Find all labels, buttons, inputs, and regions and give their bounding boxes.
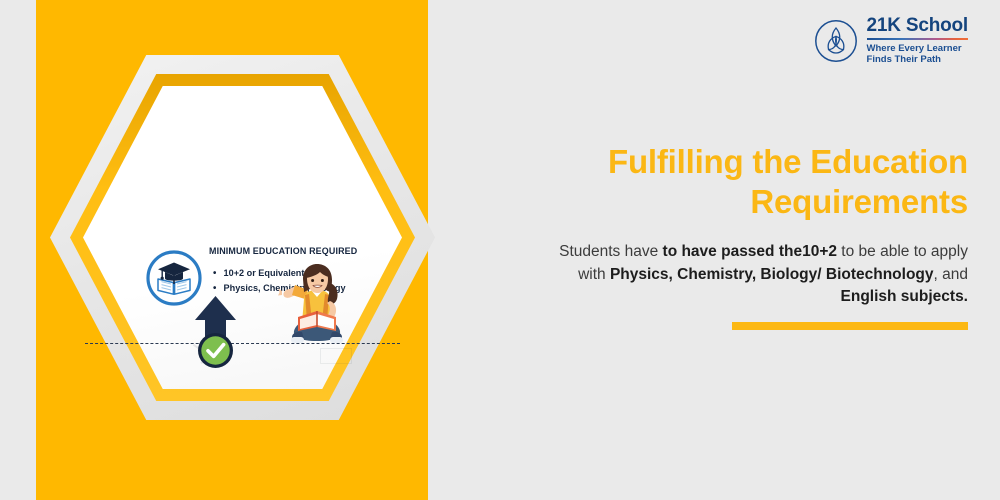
body-text-regular: Students have bbox=[559, 243, 662, 260]
headline-line-2: Requirements bbox=[750, 183, 968, 220]
lotus-circle-logo-icon bbox=[814, 19, 858, 63]
infographic-heading: MINIMUM EDUCATION REQUIRED bbox=[209, 246, 357, 257]
right-content-column: 21K School Where Every Learner Finds The… bbox=[520, 0, 980, 500]
hexagon-frame: MINIMUM EDUCATION REQUIRED 10+2 or Equiv… bbox=[50, 55, 435, 420]
brand-logo[interactable]: 21K School Where Every Learner Finds The… bbox=[814, 16, 968, 66]
body-text-bold: Physics, Chemistry, Biology/ Biotechnolo… bbox=[610, 266, 934, 283]
poster-canvas: MINIMUM EDUCATION REQUIRED 10+2 or Equiv… bbox=[0, 0, 1000, 500]
faint-box-mark bbox=[320, 348, 352, 364]
body-text-regular: , and bbox=[934, 266, 968, 283]
infographic-content: MINIMUM EDUCATION REQUIRED 10+2 or Equiv… bbox=[83, 86, 402, 389]
up-arrow-icon bbox=[188, 294, 243, 372]
girl-reading-book-illustration bbox=[278, 261, 356, 349]
brand-tagline-line2: Finds Their Path bbox=[867, 54, 968, 66]
body-paragraph: Students have to have passed the10+2 to … bbox=[548, 241, 968, 309]
accent-divider-bar bbox=[732, 322, 968, 330]
brand-underline-rule bbox=[867, 38, 968, 40]
brand-tagline-line1: Where Every Learner bbox=[867, 43, 968, 55]
brand-text-block: 21K School Where Every Learner Finds The… bbox=[867, 16, 968, 66]
body-text-bold: to have passed the10+2 bbox=[663, 243, 837, 260]
body-text-bold: English subjects. bbox=[841, 288, 968, 305]
page-title: Fulfilling the Education Requirements bbox=[548, 142, 968, 222]
brand-name: 21K School bbox=[867, 16, 968, 35]
headline-line-1: Fulfilling the Education bbox=[608, 143, 968, 180]
